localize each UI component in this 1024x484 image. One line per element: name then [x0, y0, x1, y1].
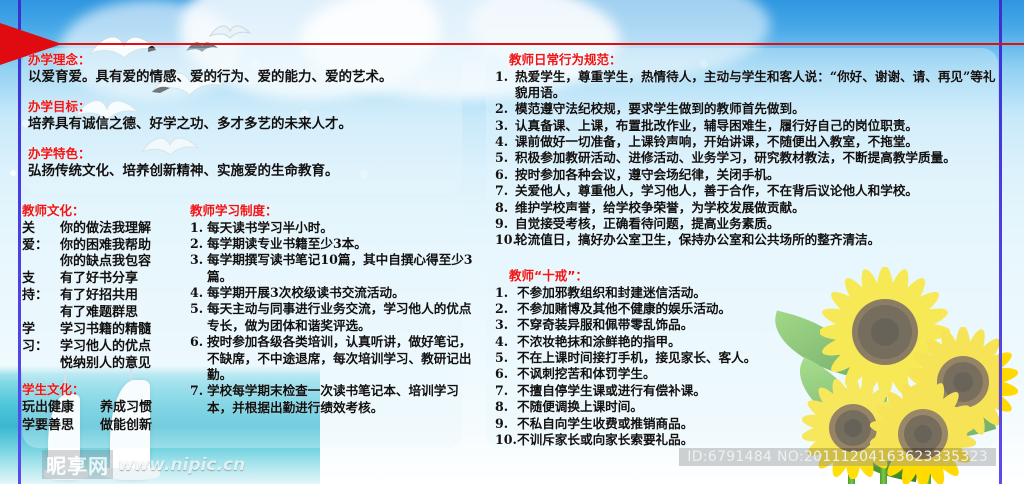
- list-item: 6.不讽刺挖苦和体罚学生。: [495, 366, 825, 382]
- culture-key: 学习：: [22, 322, 60, 373]
- aim-title: 办学特色：: [28, 146, 483, 162]
- list-item: 6.按时参加各级各类培训，认真听讲，做好笔记，不缺席，不中途退席，每次培训学习、…: [190, 334, 484, 383]
- item-number: 9.: [495, 416, 517, 432]
- item-number: 8.: [495, 399, 517, 415]
- list-item: 8.不随便调换上课时间。: [495, 399, 825, 415]
- item-number: 5.: [495, 350, 517, 366]
- item-number: 10.: [495, 232, 515, 248]
- item-number: 1.: [190, 220, 207, 236]
- item-text: 不参加邪教组织和封建迷信活动。: [517, 285, 825, 301]
- item-text: 不穿奇装异服和佩带零乱饰品。: [517, 317, 825, 333]
- section-title: 教师“十戒”：: [509, 268, 825, 284]
- item-text: 不参加赌博及其他不健康的娱乐活动。: [517, 301, 825, 317]
- item-number: 4.: [495, 334, 517, 350]
- culture-value: 你的困难我帮助: [60, 238, 190, 255]
- watermark-id: ID:6791484 NO:20111204163623335323: [679, 448, 996, 466]
- list-item: 1.不参加邪教组织和封建迷信活动。: [495, 285, 825, 301]
- student-culture-cell: 玩出健康: [22, 400, 100, 417]
- item-number: 2.: [495, 301, 517, 317]
- item-number: 9.: [495, 216, 515, 232]
- list-item: 10.不训斥家长或向家长索要礼品。: [495, 432, 825, 448]
- item-number: 8.: [495, 200, 515, 216]
- student-culture-cell: 学要善思: [22, 418, 100, 435]
- culture-key: 支持：: [22, 271, 60, 322]
- list-item: 9.自觉接受考核，正确看待问题，提高业务素质。: [495, 216, 1000, 232]
- list-item: 7.不擅自停学生课或进行有偿补课。: [495, 383, 825, 399]
- item-text: 轮流值日，搞好办公室卫生，保持办公室和公共场所的整齐清洁。: [515, 232, 1000, 248]
- item-number: 5.: [495, 150, 515, 166]
- item-text: 自觉接受考核，正确看待问题，提高业务素质。: [515, 216, 1000, 232]
- culture-row: 支持： 有了好书分享 有了好招共用 有了难题群思: [22, 271, 190, 322]
- sparkle-dot: [10, 170, 16, 176]
- culture-values: 学习书籍的精髓 学习他人的优点 悦纳别人的意见: [60, 322, 190, 373]
- list-item: 7.学校每学期末检查一次读书笔记本、培训学习本，并根据出勤进行绩效考核。: [190, 383, 484, 416]
- list-item: 10.轮流值日，搞好办公室卫生，保持办公室和公共场所的整齐清洁。: [495, 232, 1000, 248]
- item-number: 2.: [190, 236, 207, 252]
- aim-text: 以爱育爱。具有爱的情感、爱的行为、爱的能力、爱的艺术。: [28, 69, 483, 87]
- item-number: 5.: [190, 301, 207, 317]
- daily-norms-section: 教师日常行为规范： 1.热爱学生，尊重学生，热情待人，主动与学生和客人说：“你好…: [495, 52, 1000, 249]
- list-item: 5.每天主动与同事进行业务交流，学习他人的优点专长，做为团体和谐奖评选。: [190, 301, 484, 334]
- list-item: 2.不参加赌博及其他不健康的娱乐活动。: [495, 301, 825, 317]
- culture-value: 悦纳别人的意见: [60, 356, 190, 373]
- list-item: 6.按时参加各种会议，遵守会场纪律，关闭手机。: [495, 167, 1000, 183]
- item-number: 6.: [495, 167, 515, 183]
- teacher-learning-section: 教师学习制度： 1.每天读书学习半小时。 2.每学期读专业书籍至少3本。 3.每…: [190, 203, 484, 416]
- student-culture-cell: 养成习惯: [100, 400, 197, 417]
- item-text: 按时参加各种会议，遵守会场纪律，关闭手机。: [515, 167, 1000, 183]
- watermark-logo: 昵享网: [42, 450, 113, 479]
- culture-row: 关爱： 你的做法我理解 你的困难我帮助 你的缺点我包容: [22, 221, 190, 272]
- section-title: 教师文化：: [22, 203, 190, 219]
- aim-item: 办学目标： 培养具有诚信之德、好学之功、多才多艺的未来人才。: [28, 99, 483, 133]
- item-text: 维护学校声誉，给学校争荣誉，为学校发展做贡献。: [515, 200, 1000, 216]
- watermark-url: www.nipic.cn: [118, 455, 245, 475]
- item-number: 1.: [495, 69, 515, 85]
- list-item: 1.每天读书学习半小时。: [190, 220, 484, 236]
- item-text: 学校每学期末检查一次读书笔记本、培训学习本，并根据出勤进行绩效考核。: [207, 383, 484, 416]
- item-text: 关爱他人，尊重他人，学习他人，善于合作，不在背后议论他人和学校。: [515, 183, 1000, 199]
- item-text: 认真备课、上课，布置批改作业，辅导困难生，履行好自己的岗位职责。: [515, 118, 1000, 134]
- list-item: 5.积极参加教研活动、进修活动、业务学习，研究教材教法，不断提高教学质量。: [495, 150, 1000, 166]
- list-item: 8.维护学校声誉，给学校争荣誉，为学校发展做贡献。: [495, 200, 1000, 216]
- item-number: 4.: [495, 134, 515, 150]
- item-text: 不随便调换上课时间。: [517, 399, 825, 415]
- list-item: 4.不浓妆艳抹和涂鲜艳的指甲。: [495, 334, 825, 350]
- item-text: 每学期读专业书籍至少3本。: [207, 236, 484, 252]
- item-number: 2.: [495, 101, 515, 117]
- item-number: 4.: [190, 285, 207, 301]
- aim-text: 弘扬传统文化、培养创新精神、实施爱的生命教育。: [28, 163, 483, 181]
- site-watermark: 昵享网 www.nipic.cn: [42, 450, 245, 479]
- item-text: 按时参加各级各类培训，认真听讲，做好笔记，不缺席，不中途退席，每次培训学习、教研…: [207, 334, 484, 383]
- item-text: 每学期撰写读书笔记10篇，其中自撰心得至少3篇。: [207, 252, 484, 285]
- list-item: 9.不私自向学生收费或推销商品。: [495, 416, 825, 432]
- student-culture-cell: 做能创新: [100, 418, 197, 435]
- list-item: 4.课前做好一切准备，上课铃声响，开始讲课，不随便出入教室，不拖堂。: [495, 134, 1000, 150]
- culture-value: 你的做法我理解: [60, 221, 190, 238]
- culture-values: 你的做法我理解 你的困难我帮助 你的缺点我包容: [60, 221, 190, 272]
- item-number: 7.: [495, 383, 517, 399]
- item-text: 课前做好一切准备，上课铃声响，开始讲课，不随便出入教室，不拖堂。: [515, 134, 1000, 150]
- item-text: 不训斥家长或向家长索要礼品。: [517, 432, 825, 448]
- item-number: 6.: [190, 334, 207, 350]
- item-number: 7.: [190, 383, 207, 399]
- item-number: 3.: [495, 118, 515, 134]
- list-item: 5.不在上课时间接打手机，接见家长、客人。: [495, 350, 825, 366]
- item-text: 每天读书学习半小时。: [207, 220, 484, 236]
- item-text: 不讽刺挖苦和体罚学生。: [517, 366, 825, 382]
- school-aims-section: 办学理念： 以爱育爱。具有爱的情感、爱的行为、爱的能力、爱的艺术。 办学目标： …: [28, 52, 483, 194]
- item-text: 不在上课时间接打手机，接见家长、客人。: [517, 350, 825, 366]
- culture-row: 学习： 学习书籍的精髓 学习他人的优点 悦纳别人的意见: [22, 322, 190, 373]
- item-text: 不浓妆艳抹和涂鲜艳的指甲。: [517, 334, 825, 350]
- aim-text: 培养具有诚信之德、好学之功、多才多艺的未来人才。: [28, 116, 483, 134]
- teacher-culture-section: 教师文化： 关爱： 你的做法我理解 你的困难我帮助 你的缺点我包容 支持： 有了…: [22, 203, 190, 373]
- aim-title: 办学理念：: [28, 52, 483, 68]
- item-number: 6.: [495, 366, 517, 382]
- item-text: 不私自向学生收费或推销商品。: [517, 416, 825, 432]
- aim-item: 办学理念： 以爱育爱。具有爱的情感、爱的行为、爱的能力、爱的艺术。: [28, 52, 483, 86]
- header-red-rule: [0, 43, 1024, 45]
- student-culture-section: 学生文化： 玩出健康 养成习惯 学要善思 做能创新: [22, 382, 197, 435]
- item-number: 3.: [190, 252, 207, 268]
- culture-key: 关爱：: [22, 221, 60, 272]
- list-item: 2.每学期读专业书籍至少3本。: [190, 236, 484, 252]
- section-title: 学生文化：: [22, 382, 197, 398]
- item-number: 10.: [495, 432, 517, 448]
- list-item: 3.每学期撰写读书笔记10篇，其中自撰心得至少3篇。: [190, 252, 484, 285]
- culture-values: 有了好书分享 有了好招共用 有了难题群思: [60, 271, 190, 322]
- culture-value: 有了好招共用: [60, 288, 190, 305]
- item-text: 热爱学生，尊重学生，热情待人，主动与学生和客人说：“你好、谢谢、请、再见”等礼貌…: [515, 69, 1000, 102]
- item-text: 模范遵守法纪校规，要求学生做到的教师首先做到。: [515, 101, 1000, 117]
- list-item: 3.不穿奇装异服和佩带零乱饰品。: [495, 317, 825, 333]
- culture-value: 你的缺点我包容: [60, 254, 190, 271]
- item-text: 不擅自停学生课或进行有偿补课。: [517, 383, 825, 399]
- culture-value: 有了好书分享: [60, 271, 190, 288]
- list-item: 4.每学期开展3次校级读书交流活动。: [190, 285, 484, 301]
- section-title: 教师日常行为规范：: [509, 52, 1000, 68]
- culture-value: 有了难题群思: [60, 305, 190, 322]
- frame-line-left: [18, 0, 21, 484]
- section-title: 教师学习制度：: [190, 203, 484, 219]
- item-text: 积极参加教研活动、进修活动、业务学习，研究教材教法，不断提高教学质量。: [515, 150, 1000, 166]
- list-item: 2.模范遵守法纪校规，要求学生做到的教师首先做到。: [495, 101, 1000, 117]
- aim-title: 办学目标：: [28, 99, 483, 115]
- poster-canvas: 办学理念： 以爱育爱。具有爱的情感、爱的行为、爱的能力、爱的艺术。 办学目标： …: [0, 0, 1024, 484]
- list-item: 3.认真备课、上课，布置批改作业，辅导困难生，履行好自己的岗位职责。: [495, 118, 1000, 134]
- list-item: 7.关爱他人，尊重他人，学习他人，善于合作，不在背后议论他人和学校。: [495, 183, 1000, 199]
- item-text: 每天主动与同事进行业务交流，学习他人的优点专长，做为团体和谐奖评选。: [207, 301, 484, 334]
- item-number: 3.: [495, 317, 517, 333]
- item-number: 1.: [495, 285, 517, 301]
- ten-prohibitions-section: 教师“十戒”： 1.不参加邪教组织和封建迷信活动。 2.不参加赌博及其他不健康的…: [495, 268, 825, 448]
- item-number: 7.: [495, 183, 515, 199]
- list-item: 1.热爱学生，尊重学生，热情待人，主动与学生和客人说：“你好、谢谢、请、再见”等…: [495, 69, 1000, 102]
- aim-item: 办学特色： 弘扬传统文化、培养创新精神、实施爱的生命教育。: [28, 146, 483, 180]
- item-text: 每学期开展3次校级读书交流活动。: [207, 285, 484, 301]
- culture-value: 学习他人的优点: [60, 339, 190, 356]
- culture-value: 学习书籍的精髓: [60, 322, 190, 339]
